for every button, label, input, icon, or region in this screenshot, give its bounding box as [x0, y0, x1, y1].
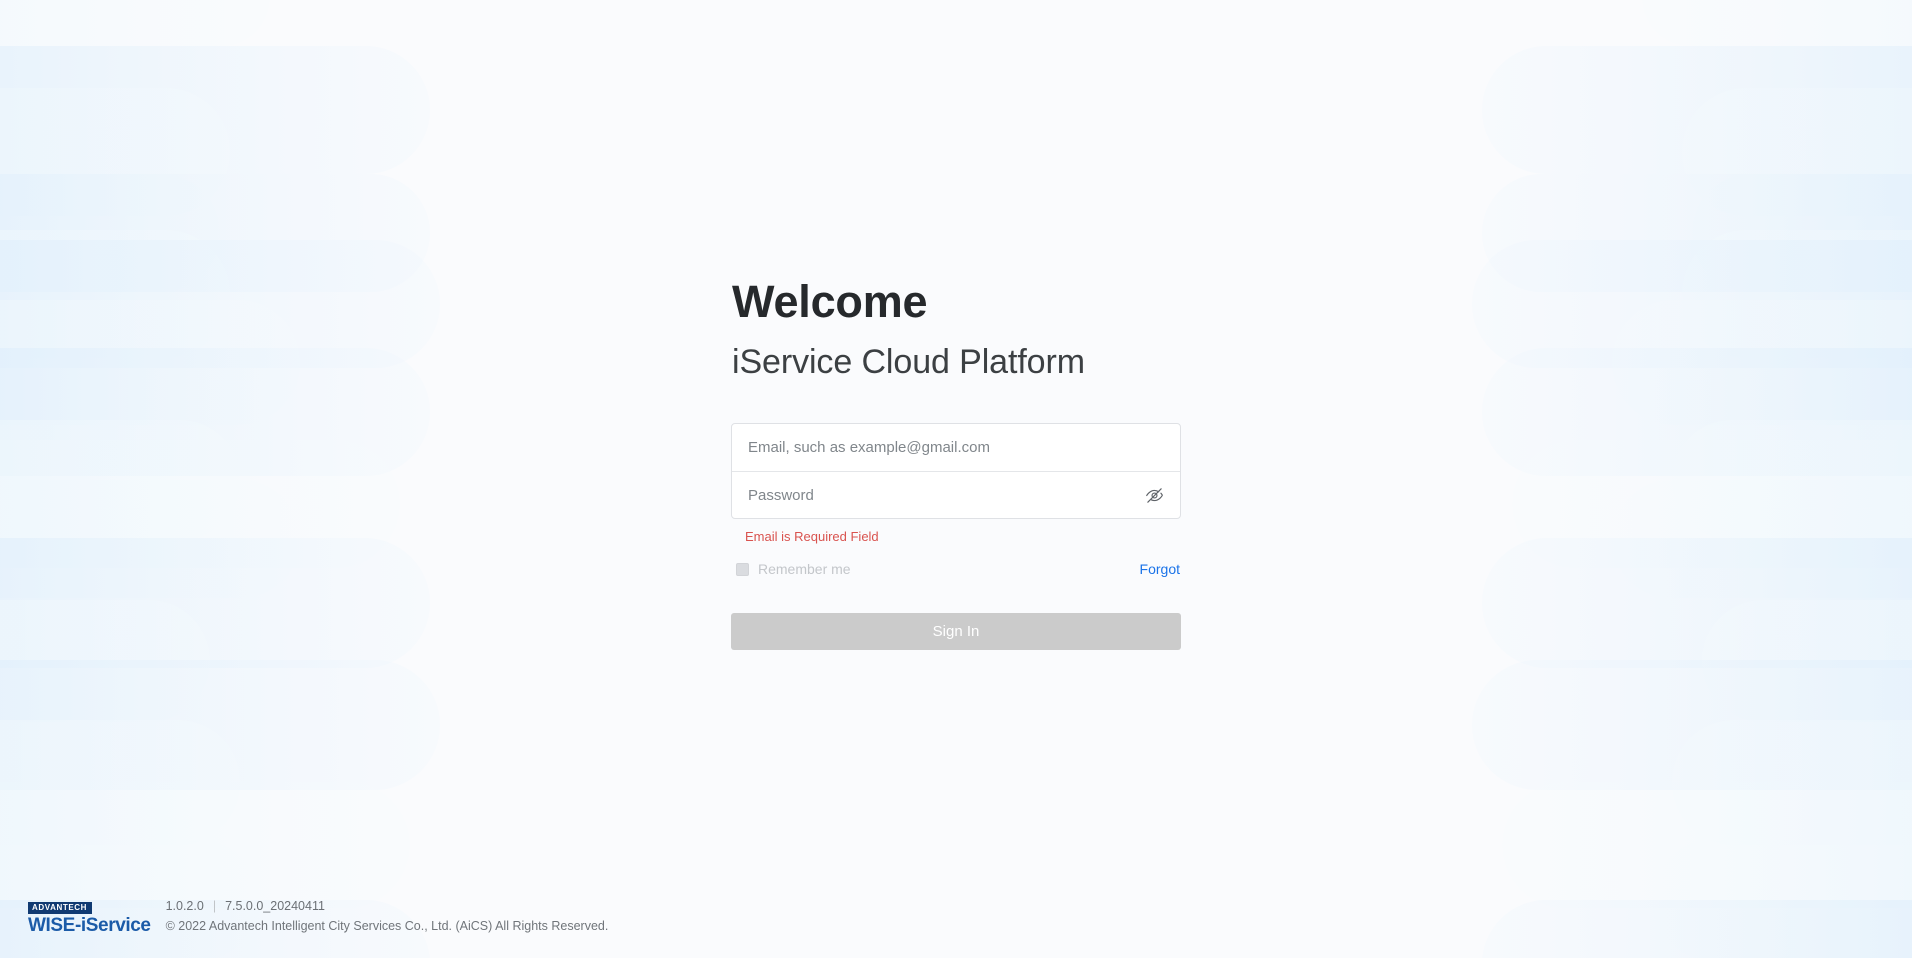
login-form: Email is Required Field Remember me Forg… [731, 423, 1181, 650]
login-page: Welcome iService Cloud Platform [0, 0, 1912, 958]
remember-me-checkbox[interactable]: Remember me [736, 562, 851, 576]
advantech-badge: ADVANTECH [28, 902, 92, 914]
version-line: 1.0.2.0 | 7.5.0.0_20240411 [166, 899, 609, 915]
footer: ADVANTECH WISE-iService 1.0.2.0 | 7.5.0.… [28, 899, 608, 936]
forgot-password-link[interactable]: Forgot [1140, 562, 1180, 576]
form-options-row: Remember me Forgot [731, 558, 1181, 580]
email-input[interactable] [732, 424, 1180, 471]
sign-in-button[interactable]: Sign In [731, 613, 1181, 650]
password-input[interactable] [732, 472, 1180, 518]
eye-off-icon[interactable] [1142, 483, 1166, 507]
wise-iservice-wordmark: WISE-iService [28, 916, 151, 935]
platform-subtitle: iService Cloud Platform [732, 342, 1181, 383]
password-field-row [732, 471, 1180, 518]
remember-me-label: Remember me [758, 562, 851, 576]
footer-text: 1.0.2.0 | 7.5.0.0_20240411 © 2022 Advant… [166, 899, 609, 936]
email-field-row [732, 424, 1180, 471]
email-error-message: Email is Required Field [745, 529, 1181, 545]
copyright-notice: © 2022 Advantech Intelligent City Servic… [166, 918, 609, 934]
version-separator: | [213, 899, 216, 915]
app-version: 1.0.2.0 [166, 899, 204, 915]
build-version: 7.5.0.0_20240411 [225, 899, 325, 915]
page-title: Welcome [732, 278, 1181, 326]
credentials-input-group [731, 423, 1181, 519]
checkbox-box-icon [736, 563, 749, 576]
advantech-wise-iservice-logo: ADVANTECH WISE-iService [28, 902, 151, 936]
login-panel: Welcome iService Cloud Platform [731, 278, 1181, 650]
